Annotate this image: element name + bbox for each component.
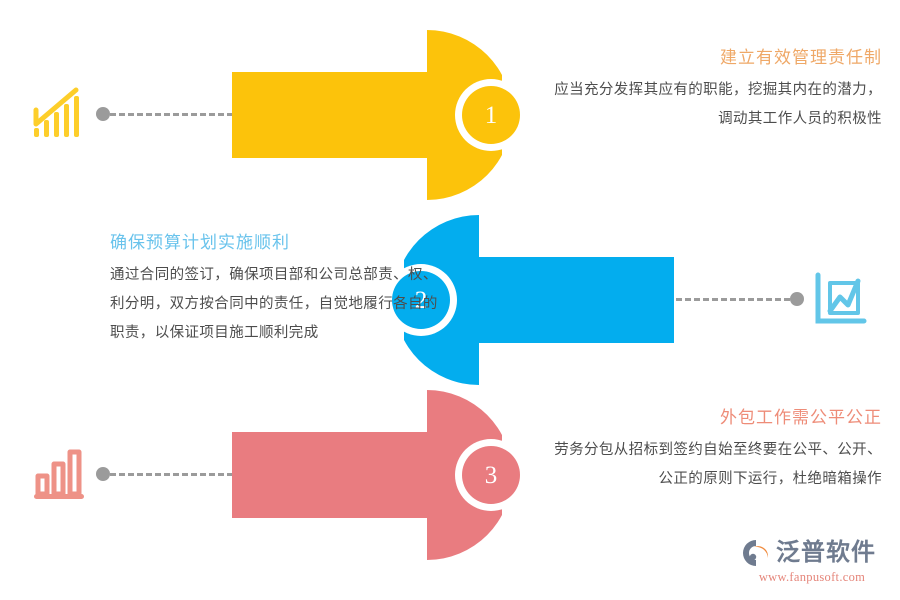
connector-dash	[110, 473, 242, 476]
brand-logo: 泛普软件 www.fanpusoft.com	[742, 538, 882, 590]
step-body-3: 劳务分包从招标到签约自始至终要在公平、公开、公正的原则下运行，杜绝暗箱操作	[552, 436, 882, 494]
logo-row: 泛普软件	[742, 538, 882, 568]
connector-dash	[110, 113, 242, 116]
logo-name: 泛普软件	[776, 541, 876, 565]
fanpu-logo-icon	[742, 538, 772, 568]
connector-dot	[96, 107, 110, 121]
bar-chart-rising-icon	[28, 82, 92, 146]
step-text-1: 建立有效管理责任制 应当充分发挥其应有的职能，挖掘其内在的潜力，调动其工作人员的…	[552, 44, 882, 134]
line-chart-box-icon	[808, 267, 872, 331]
connector-dot	[96, 467, 110, 481]
connector-line-1	[96, 106, 242, 122]
step-row-2: 2 确保预算计划实施顺利 通过合同的签订，确保项目部和公司总部责、权、利分明，双…	[0, 215, 900, 385]
connector-line-2	[658, 291, 804, 307]
step-title-3: 外包工作需公平公正	[552, 404, 882, 432]
connector-line-3	[96, 466, 242, 482]
step-text-2: 确保预算计划实施顺利 通过合同的签订，确保项目部和公司总部责、权、利分明，双方按…	[110, 229, 440, 348]
step-body-1: 应当充分发挥其应有的职能，挖掘其内在的潜力，调动其工作人员的积极性	[552, 76, 882, 134]
connector-dash	[658, 298, 790, 301]
infographic-canvas: 1 建立有效管理责任制 应当充分发挥其应有的职能，挖掘其内在的潜力，调动其工作人…	[0, 0, 900, 600]
step-title-1: 建立有效管理责任制	[552, 44, 882, 72]
step-body-2: 通过合同的签订，确保项目部和公司总部责、权、利分明，双方按合同中的责任，自觉地履…	[110, 261, 440, 348]
step-text-3: 外包工作需公平公正 劳务分包从招标到签约自始至终要在公平、公开、公正的原则下运行…	[552, 404, 882, 494]
step-number-badge-3: 3	[462, 446, 520, 504]
logo-url: www.fanpusoft.com	[742, 570, 882, 585]
connector-dot	[790, 292, 804, 306]
step-number-label: 1	[485, 103, 498, 128]
step-row-3: 3 外包工作需公平公正 劳务分包从招标到签约自始至终要在公平、公开、公正的原则下…	[0, 390, 900, 560]
step-number-badge-1: 1	[462, 86, 520, 144]
step-title-2: 确保预算计划实施顺利	[110, 229, 440, 257]
step-number-label: 3	[485, 463, 498, 488]
step-row-1: 1 建立有效管理责任制 应当充分发挥其应有的职能，挖掘其内在的潜力，调动其工作人…	[0, 30, 900, 200]
bar-chart-icon	[28, 442, 92, 506]
